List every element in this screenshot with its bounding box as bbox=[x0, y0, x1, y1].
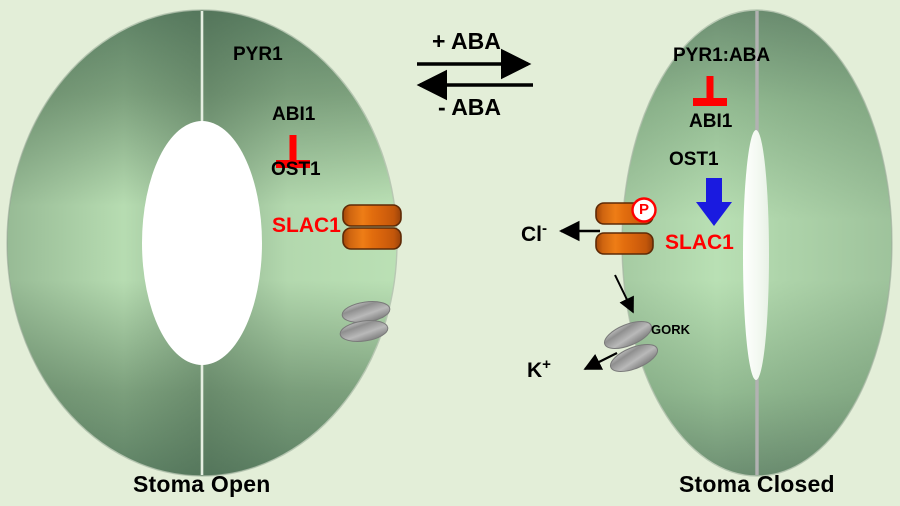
figure-canvas: PYR1 ABI1 OST1 SLAC1 + ABA - ABA PYR1:AB… bbox=[0, 0, 900, 506]
slac1-barrel-bottom-closed bbox=[596, 233, 653, 254]
reaction-arrows bbox=[417, 64, 533, 85]
chloride-symbol: Cl bbox=[521, 223, 542, 246]
potassium-symbol: K bbox=[527, 359, 542, 382]
caption-stoma-closed: Stoma Closed bbox=[679, 473, 835, 496]
stoma-closed-cell bbox=[622, 10, 892, 476]
label-gork: GORK bbox=[651, 323, 690, 336]
label-abi1-closed: ABI1 bbox=[689, 112, 732, 131]
label-minus-aba: - ABA bbox=[438, 96, 501, 119]
label-slac1-closed: SLAC1 bbox=[665, 232, 734, 253]
potassium-charge: + bbox=[542, 356, 551, 373]
label-slac1-open: SLAC1 bbox=[272, 215, 341, 236]
slac1-barrel-top-open bbox=[343, 205, 401, 226]
label-ost1-open: OST1 bbox=[271, 160, 321, 179]
label-potassium: K+ bbox=[527, 357, 551, 381]
label-plus-aba: + ABA bbox=[432, 30, 501, 53]
chloride-charge: - bbox=[542, 220, 547, 237]
label-ost1-closed: OST1 bbox=[669, 150, 719, 169]
stoma-open-cell bbox=[7, 10, 397, 476]
label-pyr1-aba-complex: PYR1:ABA bbox=[673, 46, 770, 65]
slac1-barrel-bottom-open bbox=[343, 228, 401, 249]
stomatal-pore-closed bbox=[743, 130, 769, 380]
diagram-svg bbox=[0, 0, 900, 506]
label-chloride: Cl- bbox=[521, 221, 547, 245]
stomatal-pore-open bbox=[142, 121, 262, 365]
phospho-p-letter: P bbox=[639, 202, 649, 217]
label-pyr1-open: PYR1 bbox=[233, 45, 283, 64]
caption-stoma-open: Stoma Open bbox=[133, 473, 270, 496]
label-abi1-open: ABI1 bbox=[272, 105, 315, 124]
